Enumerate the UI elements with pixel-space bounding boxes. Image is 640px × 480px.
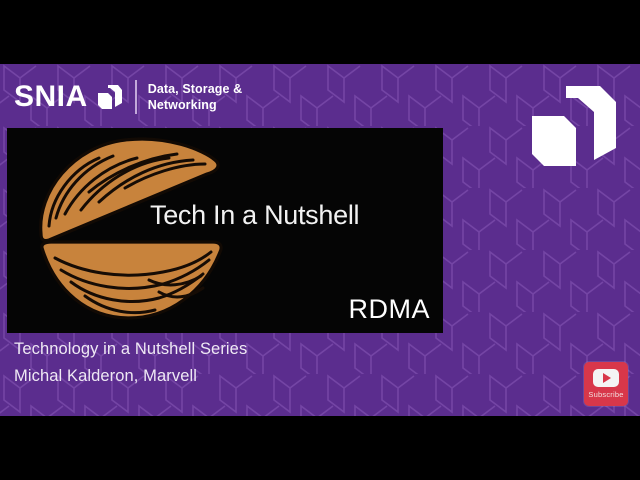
snia-wordmark: SNIA xyxy=(14,82,88,112)
video-frame: SNIA Data, Storage & Networking xyxy=(0,64,640,416)
tagline-line-1: Data, Storage & xyxy=(148,81,243,97)
title-card: Tech In a Nutshell RDMA xyxy=(7,128,443,333)
card-title: Tech In a Nutshell xyxy=(150,200,359,231)
snia-logo-lockup: SNIA Data, Storage & Networking xyxy=(14,76,242,118)
card-topic: RDMA xyxy=(349,294,431,325)
series-label: Technology in a Nutshell Series xyxy=(14,336,247,363)
video-player[interactable]: SNIA Data, Storage & Networking xyxy=(0,0,640,480)
snia-cube-icon xyxy=(97,83,123,111)
subscribe-button[interactable]: Subscribe xyxy=(584,362,628,406)
vertical-divider xyxy=(135,80,137,114)
tagline-line-2: Networking xyxy=(148,97,243,113)
subscribe-label: Subscribe xyxy=(588,390,623,399)
snia-tagline: Data, Storage & Networking xyxy=(148,81,243,113)
presenter-label: Michal Kalderon, Marvell xyxy=(14,363,247,390)
caption-block: Technology in a Nutshell Series Michal K… xyxy=(14,336,247,389)
snia-cube-watermark-icon xyxy=(526,72,622,176)
youtube-play-icon xyxy=(593,369,619,387)
